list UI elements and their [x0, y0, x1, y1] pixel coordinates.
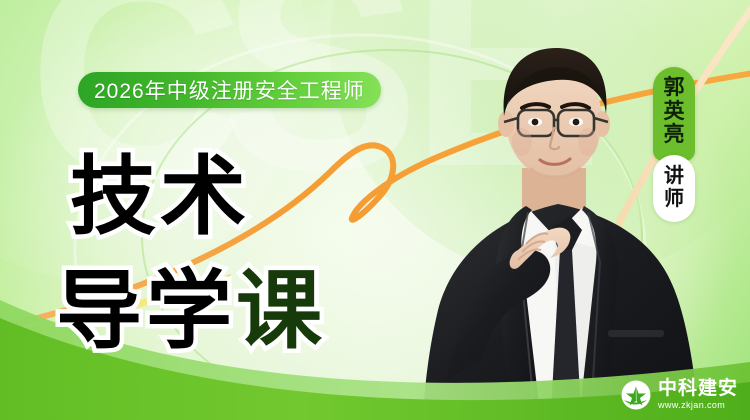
- instructor-name-char-1: 郭: [664, 76, 685, 100]
- course-badge: 2026年中级注册安全工程师: [78, 72, 381, 108]
- brand-text: 中科建安 www.zkjan.com: [658, 379, 738, 410]
- instructor-name-char-3: 亮: [664, 123, 685, 147]
- brand-name: 中科建安: [658, 379, 738, 398]
- instructor-name: 郭 英 亮: [653, 67, 695, 161]
- instructor-role-char-2: 师: [664, 188, 684, 211]
- course-banner: C S E: [0, 0, 750, 420]
- brand-url: www.zkjan.com: [658, 401, 738, 410]
- course-title-line-2-main: 导学: [56, 263, 236, 359]
- instructor-name-char-2: 英: [664, 100, 685, 124]
- star-swoosh-icon: [621, 380, 651, 410]
- course-title-line-2-accent: 课: [236, 263, 326, 359]
- instructor-role: 讲 师: [653, 155, 695, 222]
- instructor-pill: 郭 英 亮 讲 师: [653, 67, 695, 222]
- instructor-role-char-1: 讲: [664, 165, 684, 188]
- course-title-line-1: 技术: [70, 126, 250, 251]
- brand-logo: 中科建安 www.zkjan.com: [621, 379, 738, 410]
- course-title-line-2: 导学课: [56, 240, 326, 365]
- course-badge-label: 2026年中级注册安全工程师: [94, 75, 365, 105]
